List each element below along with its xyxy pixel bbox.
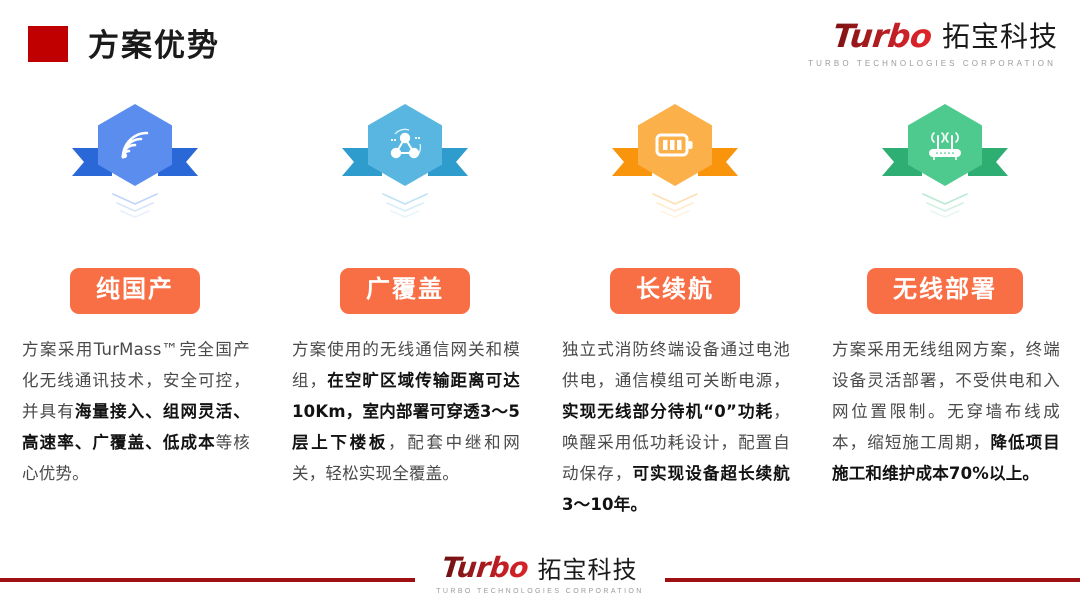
chevron-glow-icon bbox=[917, 192, 973, 220]
page-title: 方案优势 bbox=[88, 20, 220, 65]
feature-body-text: 独立式消防终端设备通过电池供电，通信模组可关断电源，实现无线部分待机“0”功耗，… bbox=[540, 334, 810, 520]
footer-rule-right bbox=[665, 578, 1080, 582]
feature-pill-wrap: 广覆盖 bbox=[270, 268, 540, 320]
feature-pill-label: 长续航 bbox=[610, 268, 740, 314]
icon-badge bbox=[540, 104, 810, 212]
brand-subtitle: TURBO TECHNOLOGIES CORPORATION bbox=[808, 59, 1058, 68]
brand-name-en: Turbo bbox=[832, 20, 944, 52]
footer-rule-left bbox=[0, 578, 415, 582]
network-nodes-icon bbox=[385, 125, 425, 165]
chevron-glow-icon bbox=[377, 192, 433, 220]
header-brand-logo: Turbo 拓宝科技 TURBO TECHNOLOGIES CORPORATIO… bbox=[808, 20, 1058, 68]
slide-header: 方案优势 Turbo 拓宝科技 TURBO TECHNOLOGIES CORPO… bbox=[0, 0, 1080, 88]
slide-footer: Turbo 拓宝科技 TURBO TECHNOLOGIES CORPORATIO… bbox=[0, 554, 1080, 608]
footer-brand-subtitle: TURBO TECHNOLOGIES CORPORATION bbox=[390, 588, 690, 595]
icon-badge bbox=[810, 104, 1080, 212]
brand-name-cn: 拓宝科技 bbox=[942, 23, 1058, 52]
feature-pill-label: 纯国产 bbox=[70, 268, 200, 314]
feature-column: 无线部署 方案采用无线组网方案，终端设备灵活部署，不受供电和入网位置限制。无穿墙… bbox=[810, 104, 1080, 489]
slide-root: 方案优势 Turbo 拓宝科技 TURBO TECHNOLOGIES CORPO… bbox=[0, 0, 1080, 608]
feature-column: 纯国产 方案采用TurMass™完全国产化无线通讯技术，安全可控，并具有海量接入… bbox=[0, 104, 270, 489]
feature-body-text: 方案采用无线组网方案，终端设备灵活部署，不受供电和入网位置限制。无穿墙布线成本，… bbox=[810, 334, 1080, 489]
feature-column: 广覆盖 方案使用的无线通信网关和模组，在空旷区域传输距离可达10Km，室内部署可… bbox=[270, 104, 540, 489]
footer-brand-logo: Turbo 拓宝科技 TURBO TECHNOLOGIES CORPORATIO… bbox=[390, 554, 690, 595]
feature-pill-wrap: 长续航 bbox=[540, 268, 810, 320]
chevron-glow-icon bbox=[647, 192, 703, 220]
feature-body-text: 方案采用TurMass™完全国产化无线通讯技术，安全可控，并具有海量接入、组网灵… bbox=[0, 334, 270, 489]
wifi-signal-icon bbox=[115, 125, 155, 165]
title-accent-mark bbox=[28, 26, 68, 62]
feature-body-text: 方案使用的无线通信网关和模组，在空旷区域传输距离可达10Km，室内部署可穿透3～… bbox=[270, 334, 540, 489]
wireless-router-icon bbox=[924, 128, 966, 162]
battery-icon bbox=[655, 130, 695, 160]
feature-pill-wrap: 纯国产 bbox=[0, 268, 270, 320]
feature-pill-wrap: 无线部署 bbox=[810, 268, 1080, 320]
footer-brand-name-cn: 拓宝科技 bbox=[538, 558, 638, 582]
chevron-glow-icon bbox=[107, 192, 163, 220]
footer-brand-name-en: Turbo bbox=[441, 554, 539, 582]
feature-pill-label: 广覆盖 bbox=[340, 268, 470, 314]
icon-badge bbox=[270, 104, 540, 212]
feature-column: 长续航 独立式消防终端设备通过电池供电，通信模组可关断电源，实现无线部分待机“0… bbox=[540, 104, 810, 520]
feature-pill-label: 无线部署 bbox=[867, 268, 1023, 314]
icon-badge bbox=[0, 104, 270, 212]
